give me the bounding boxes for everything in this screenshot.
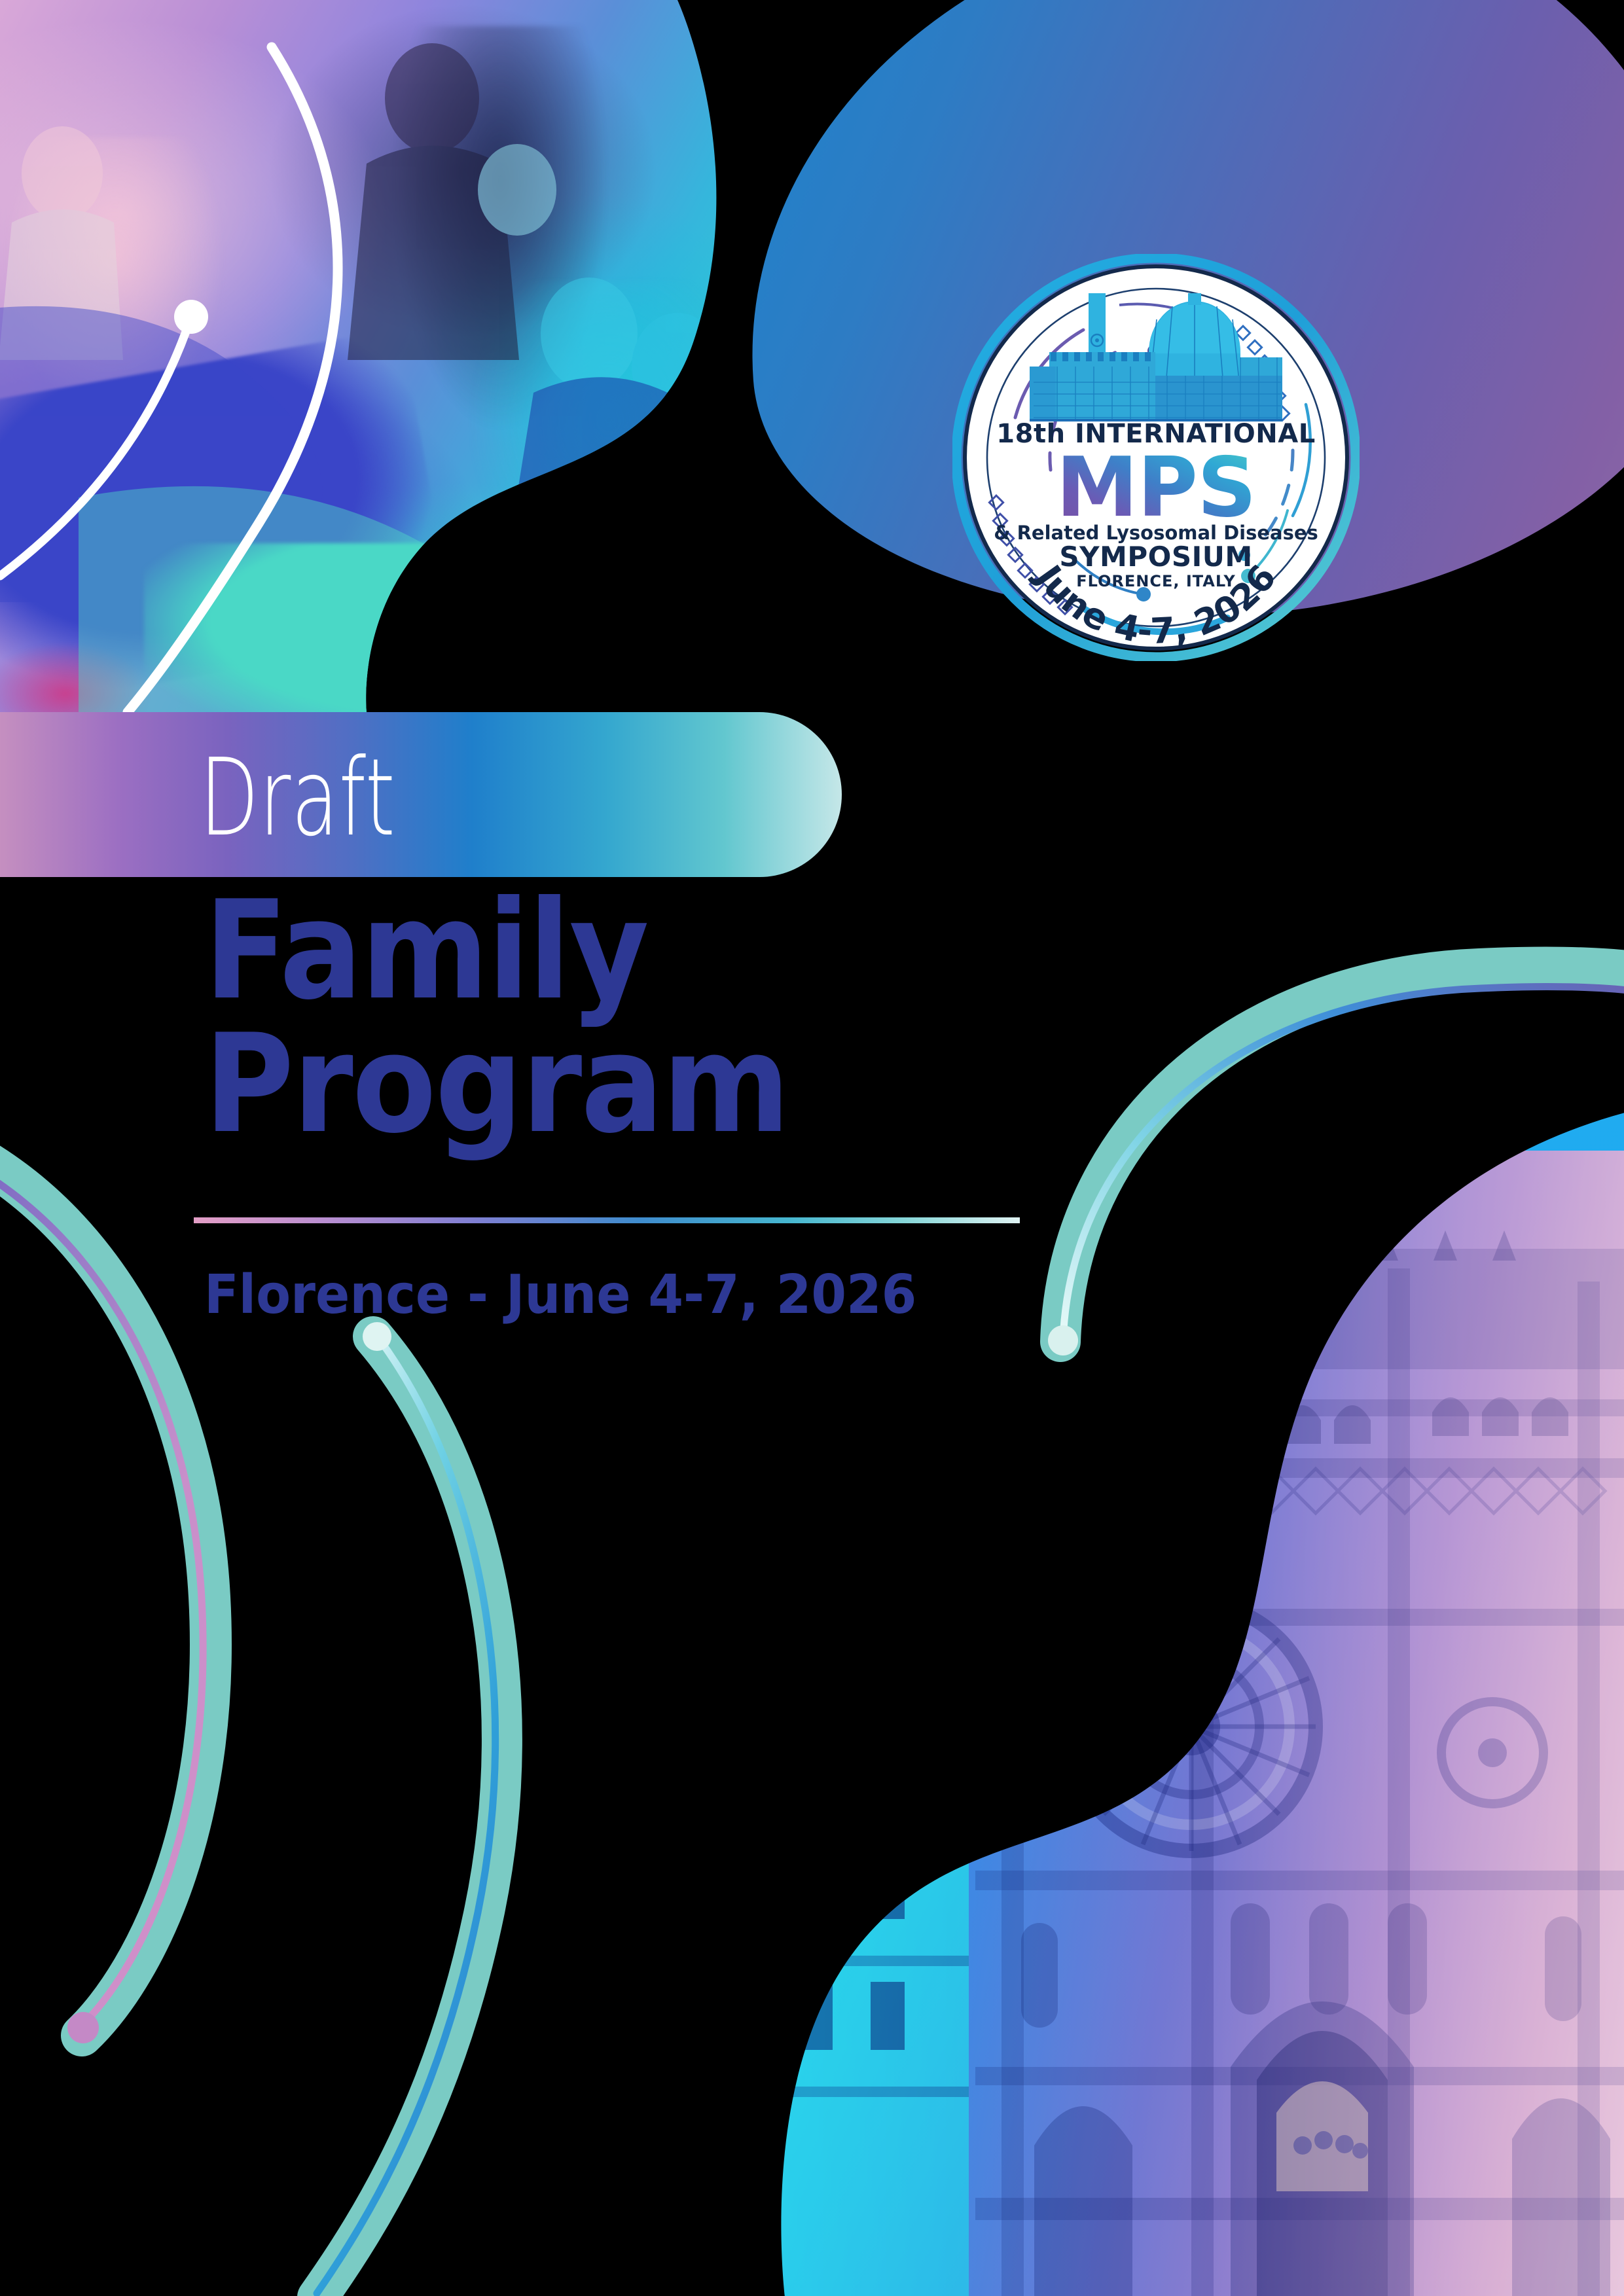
gradient-divider <box>194 1217 1020 1223</box>
title-line-program: Program <box>204 1018 1029 1152</box>
title-line-family: Family <box>204 885 1029 1018</box>
event-location-and-dates: Florence - June 4-7, 2026 <box>204 1268 916 1322</box>
poster-canvas: 18th INTERNATIONAL MPS & Related Lysosom… <box>0 0 1624 2296</box>
logo-acronym-text: MPS <box>1056 439 1255 535</box>
page-title: Family Program <box>204 885 1121 1152</box>
draft-status-badge: Draft <box>0 712 842 877</box>
draft-label: Draft <box>200 745 395 852</box>
mps-symposium-logo: 18th INTERNATIONAL MPS & Related Lysosom… <box>952 254 1360 661</box>
decorative-arc-lower-left <box>177 1270 648 2296</box>
logo-event-type-text: SYMPOSIUM <box>1059 541 1252 573</box>
logo-location-text: FLORENCE, ITALY <box>1076 572 1236 590</box>
photo-swoosh-decoration <box>0 0 746 733</box>
